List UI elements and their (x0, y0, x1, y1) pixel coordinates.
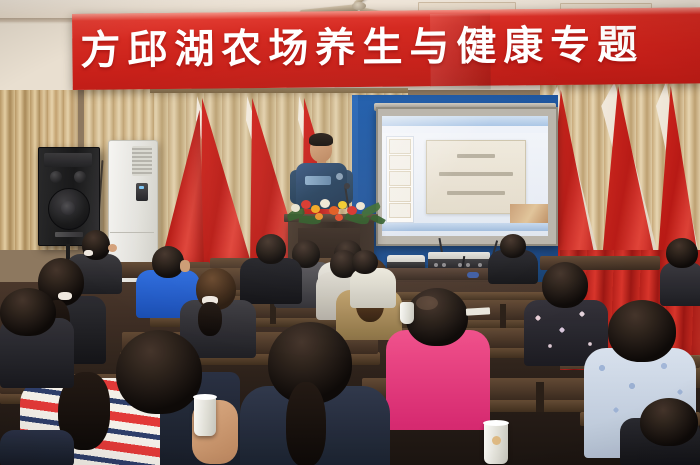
attendee-body (660, 262, 700, 306)
banner-title-text: 方邱湖农场养生与健康专题 (80, 14, 700, 82)
attendee-hair (286, 382, 326, 465)
paper-cup (194, 396, 216, 436)
bench-leg (500, 304, 506, 328)
presenter-shirt-graphic (305, 176, 331, 185)
notebook (466, 307, 490, 315)
presenter-shirt-logo (336, 173, 343, 180)
attendee-head (0, 288, 56, 336)
air-conditioner-seam (110, 232, 154, 233)
pa-speaker-port (44, 153, 92, 167)
hair-clip (84, 250, 93, 256)
ceiling-fan-icon (352, 2, 366, 10)
pa-speaker-tweeter (74, 171, 86, 183)
pa-speaker-logo (55, 232, 83, 237)
paper-cup-print (492, 436, 501, 445)
attendee-head (116, 330, 202, 414)
paper-cup-rim (483, 420, 509, 426)
attendee-body (0, 430, 74, 465)
attendee-ear (180, 260, 190, 272)
attendee-body (240, 258, 302, 304)
attendee-head (640, 398, 698, 446)
attendee-body (350, 268, 396, 308)
presenter-hair (309, 133, 333, 146)
small-object (467, 272, 479, 278)
paper-cup (400, 302, 414, 324)
flower-arrangement (285, 196, 383, 226)
attendee-face (108, 244, 117, 252)
hair-clip (58, 292, 72, 300)
pa-speaker-cone (61, 201, 75, 215)
seminar-photograph: 方邱湖农场养生与健康专题 (0, 0, 700, 465)
attendee-hair-highlight (416, 296, 438, 310)
attendee-hair (198, 302, 222, 336)
attendee-head (500, 234, 526, 258)
pa-speaker-tweeter (50, 171, 62, 183)
air-conditioner-vent (132, 146, 152, 176)
attendee-head (406, 288, 468, 346)
attendee-head (352, 250, 378, 274)
screen-glare (382, 116, 548, 236)
paper-cup-rim (193, 394, 217, 400)
attendee-head (666, 238, 698, 268)
microphone-icon (344, 183, 350, 189)
attendee-head (608, 300, 676, 362)
attendee-head (152, 246, 184, 278)
attendee-head (542, 262, 588, 308)
attendee-head (256, 234, 286, 264)
air-conditioner-led (139, 186, 144, 189)
bench-leg (536, 382, 544, 412)
